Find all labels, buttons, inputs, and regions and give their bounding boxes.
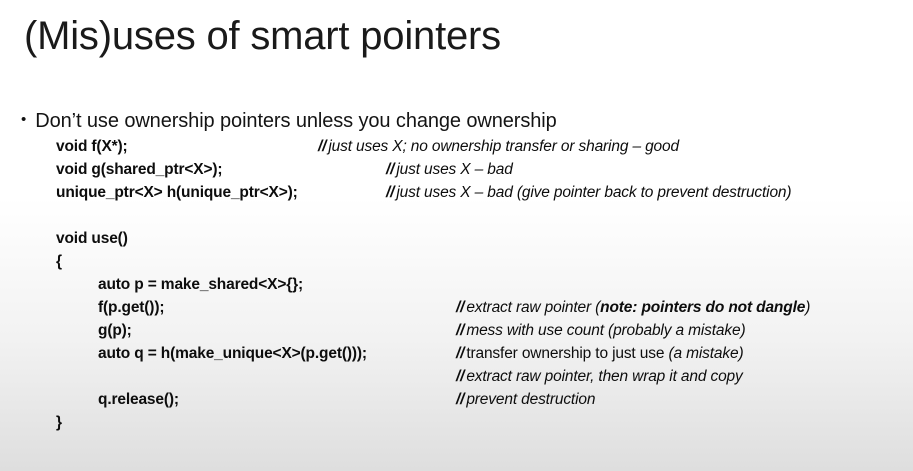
bullet-item-label: Don’t use ownership pointers unless you … (35, 110, 556, 133)
comment-marker: // (456, 368, 464, 385)
comment-text: prevent destruction (466, 391, 595, 408)
comment-text: mess with use count (probably a mistake) (466, 322, 745, 339)
code-comment: //transfer ownership to just use (a mist… (456, 345, 743, 363)
comment-tail: ) (805, 299, 810, 316)
code-comment: //mess with use count (probably a mistak… (456, 322, 745, 340)
code-row: } (0, 414, 913, 437)
comment-marker: // (456, 345, 464, 362)
comment-marker: // (386, 184, 394, 201)
code-row: void f(X*); //just uses X; no ownership … (0, 138, 913, 161)
comment-marker: // (456, 299, 464, 316)
code-text: void use() (56, 230, 128, 248)
code-comment: //extract raw pointer, then wrap it and … (456, 368, 743, 386)
slide: (Mis)uses of smart pointers • Don’t use … (0, 0, 913, 471)
page-title: (Mis)uses of smart pointers (24, 14, 501, 59)
code-text: auto p = make_shared<X>{}; (98, 276, 303, 294)
comment-marker: // (318, 138, 326, 155)
code-comment: //just uses X; no ownership transfer or … (318, 138, 679, 156)
code-text: } (56, 414, 62, 432)
code-text: auto q = h(make_unique<X>(p.get())); (98, 345, 367, 363)
code-row: q.release(); //prevent destruction (0, 391, 913, 414)
bullet-item: • Don’t use ownership pointers unless yo… (21, 110, 557, 133)
code-spacer (0, 207, 913, 230)
code-text: void g(shared_ptr<X>); (56, 161, 222, 179)
comment-text: just uses X – bad (give pointer back to … (396, 184, 791, 201)
comment-tail: (a mistake) (668, 345, 743, 362)
code-row: g(p); //mess with use count (probably a … (0, 322, 913, 345)
code-text: unique_ptr<X> h(unique_ptr<X>); (56, 184, 298, 202)
comment-marker: // (456, 391, 464, 408)
comment-text: extract raw pointer ( (466, 299, 600, 316)
comment-text: transfer ownership to just use (466, 345, 668, 362)
code-comment: //prevent destruction (456, 391, 595, 409)
code-row: void use() (0, 230, 913, 253)
code-row: //extract raw pointer, then wrap it and … (0, 368, 913, 391)
code-row: unique_ptr<X> h(unique_ptr<X>); //just u… (0, 184, 913, 207)
code-row: auto p = make_shared<X>{}; (0, 276, 913, 299)
code-text: f(p.get()); (98, 299, 164, 317)
code-text: q.release(); (98, 391, 179, 409)
comment-marker: // (456, 322, 464, 339)
comment-text: just uses X – bad (396, 161, 512, 178)
code-comment: //just uses X – bad (give pointer back t… (386, 184, 791, 202)
code-row: { (0, 253, 913, 276)
code-comment: //just uses X – bad (386, 161, 513, 179)
comment-emphasis: note: pointers do not dangle (600, 299, 805, 316)
code-text: void f(X*); (56, 138, 128, 156)
comment-text: extract raw pointer, then wrap it and co… (466, 368, 742, 385)
code-listing: void f(X*); //just uses X; no ownership … (0, 138, 913, 437)
bullet-dot-icon: • (21, 112, 26, 127)
comment-marker: // (386, 161, 394, 178)
code-row: auto q = h(make_unique<X>(p.get())); //t… (0, 345, 913, 368)
code-text: g(p); (98, 322, 132, 340)
code-text: { (56, 253, 62, 271)
code-row: f(p.get()); //extract raw pointer (note:… (0, 299, 913, 322)
code-comment: //extract raw pointer (note: pointers do… (456, 299, 810, 317)
code-row: void g(shared_ptr<X>); //just uses X – b… (0, 161, 913, 184)
comment-text: just uses X; no ownership transfer or sh… (328, 138, 679, 155)
